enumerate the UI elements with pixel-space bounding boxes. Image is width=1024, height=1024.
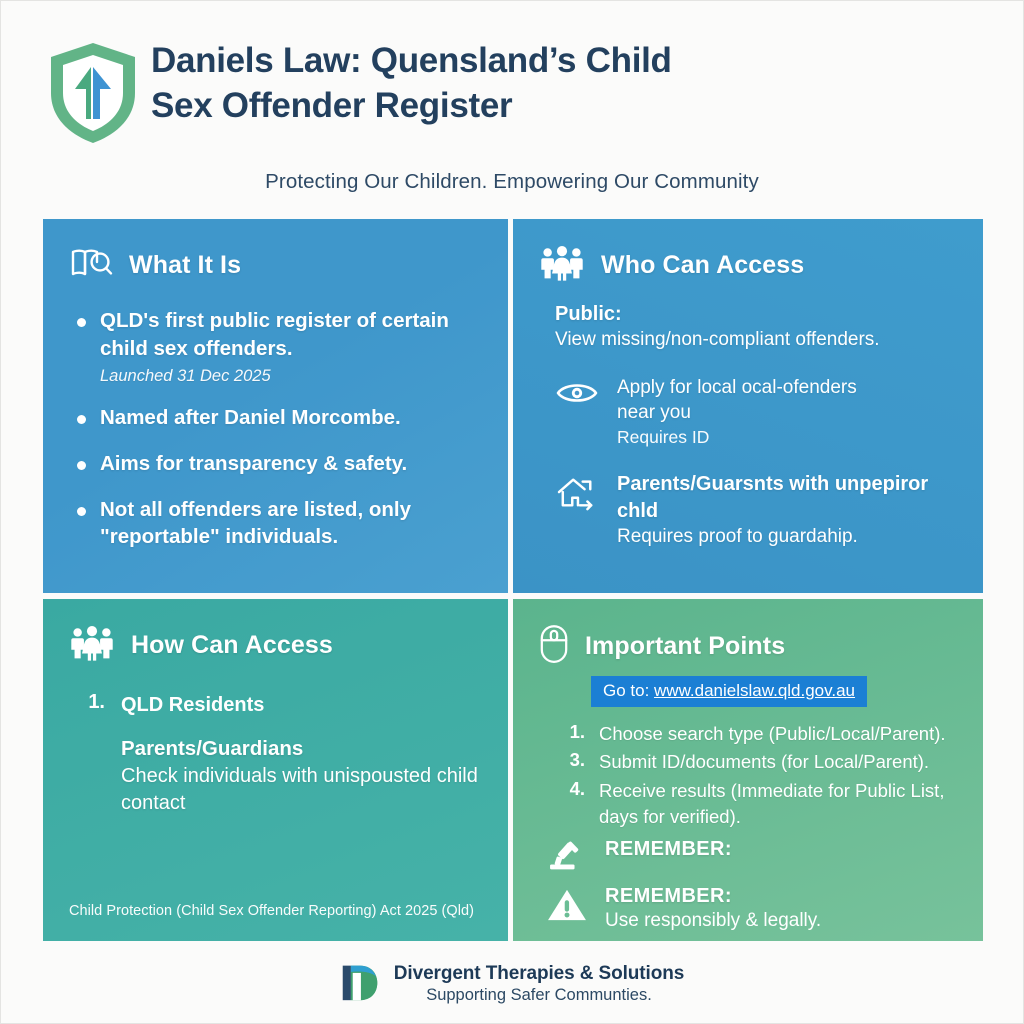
card-header: What It Is (69, 243, 482, 287)
bullet-dot (77, 318, 86, 327)
card-title: Important Points (585, 632, 785, 661)
poster-header: Daniels Law: Quensland’s Child Sex Offen… (1, 1, 1023, 147)
access-line: Apply for local ocal-ofenders (617, 375, 857, 400)
access-line: near you (617, 400, 857, 425)
list-item: 1. QLD Residents (79, 691, 482, 719)
book-search-icon (69, 244, 113, 287)
legal-act-note: Child Protection (Child Sex Offender Rep… (69, 903, 474, 919)
card-header: Important Points (539, 623, 957, 670)
list-number: 1. (79, 691, 105, 714)
footer-text: Divergent Therapies & Solutions Supporti… (394, 963, 684, 1006)
warning-triangle-icon (547, 887, 589, 928)
bullet-list: QLD's first public register of certain c… (69, 307, 482, 551)
family-group-icon (69, 624, 115, 667)
mouse-icon (539, 623, 569, 670)
card-who-can-access: Who Can Access Public: View missing/non-… (513, 219, 983, 599)
url-prefix: Go to: (603, 681, 654, 700)
bullet-text: Named after Daniel Morcombe. (100, 404, 401, 432)
step-text: Receive results (Immediate for Public Li… (599, 778, 957, 831)
card-title: What It Is (129, 251, 241, 280)
step-text: Choose search type (Public/Local/Parent)… (599, 721, 946, 747)
access-line: Requires proof to guardahip. (617, 524, 957, 549)
reminder-gavel: REMEMBER: (539, 838, 957, 877)
reminder-title: REMEMBER: (605, 838, 732, 861)
poster-footer: Divergent Therapies & Solutions Supporti… (1, 960, 1023, 1009)
page-subtitle: Protecting Our Children. Empowering Our … (1, 170, 1023, 194)
title-block: Daniels Law: Quensland’s Child Sex Offen… (143, 35, 672, 129)
bullet-dot (77, 461, 86, 470)
sub-heading: Parents/Guardians (121, 737, 482, 761)
access-heading: Parents/Guarѕnts with unpepiror chld (617, 471, 957, 524)
bullet-text: Not all offenders are listed, only "repo… (100, 496, 482, 552)
organization-tagline: Supporting Safer Communties. (394, 986, 684, 1006)
sub-text: Check individuals with unispousted child… (121, 763, 482, 817)
reminder-text: Use responsibly & legally. (605, 908, 821, 934)
letter-d-logo (340, 960, 380, 1009)
reminder-warning: REMEMBER: Use responsibly & legally. (539, 885, 957, 934)
bullet-dot (77, 507, 86, 516)
list-item: 1. Choose search type (Public/Local/Pare… (565, 721, 957, 747)
bullet-note: Launched 31 Dec 2025 (100, 367, 482, 386)
card-header: Who Can Access (539, 243, 957, 287)
page-title-line1: Daniels Law: Quensland’s Child (151, 39, 672, 84)
step-text: Submit ID/documents (for Local/Parent). (599, 749, 929, 775)
access-requirement: Requires ID (617, 426, 857, 450)
access-list: Public: View missing/non-compliant offen… (539, 301, 957, 550)
list-item: Named after Daniel Morcombe. (77, 404, 482, 432)
card-how-can-access: How Can Access 1. QLD Residents Parents/… (43, 599, 513, 941)
list-item: Aims for transparency & safety. (77, 450, 482, 478)
house-arrow-icon (555, 475, 599, 516)
list-item: 3. Submit ID/documents (for Local/Parent… (565, 749, 957, 775)
list-item: Not all offenders are listed, only "repo… (77, 496, 482, 552)
bullet-text: Aims for transparency & safety. (100, 450, 407, 478)
list-item-public: Public: View missing/non-compliant offen… (555, 301, 957, 353)
bullet-text: QLD's first public register of certain c… (100, 309, 449, 360)
access-heading: Public: (555, 301, 880, 327)
eye-icon (555, 379, 599, 412)
gavel-icon (547, 840, 589, 877)
website-link-badge[interactable]: Go to: www.danielslaw.qld.gov.au (591, 676, 867, 707)
card-title: How Can Access (131, 631, 333, 660)
card-title: Who Can Access (601, 251, 804, 280)
list-item-parent: Parents/Guarѕnts with unpepiror chld Req… (555, 471, 957, 549)
card-important-points: Important Points Go to: www.danielslaw.q… (513, 599, 983, 941)
step-number: 3. (565, 749, 585, 771)
card-header: How Can Access (69, 623, 482, 667)
steps-list: 1. Choose search type (Public/Local/Pare… (539, 721, 957, 830)
list-text: QLD Residents (121, 691, 264, 719)
step-number: 1. (565, 721, 585, 743)
access-line: View missing/non-compliant offenders. (555, 327, 880, 352)
cards-grid: What It Is QLD's first public register o… (43, 219, 983, 941)
list-item: QLD's first public register of certain c… (77, 307, 482, 386)
list-item: 4. Receive results (Immediate for Public… (565, 778, 957, 831)
card-what-it-is: What It Is QLD's first public register o… (43, 219, 513, 599)
parents-guardians-block: Parents/Guardians Check individuals with… (69, 737, 482, 817)
website-url[interactable]: www.danielslaw.qld.gov.au (654, 681, 855, 700)
ordered-list: 1. QLD Residents (69, 691, 482, 719)
list-item-local: Apply for local ocal-ofenders near you R… (555, 375, 957, 450)
infographic-poster: Daniels Law: Quensland’s Child Sex Offen… (0, 0, 1024, 1024)
family-group-icon (539, 244, 585, 287)
shield-arrow-icon (43, 37, 143, 147)
page-title-line2: Sex Offender Register (151, 84, 672, 129)
bullet-dot (77, 415, 86, 424)
organization-name: Divergent Therapies & Solutions (394, 963, 684, 986)
reminder-title: REMEMBER: (605, 885, 821, 908)
step-number: 4. (565, 778, 585, 800)
